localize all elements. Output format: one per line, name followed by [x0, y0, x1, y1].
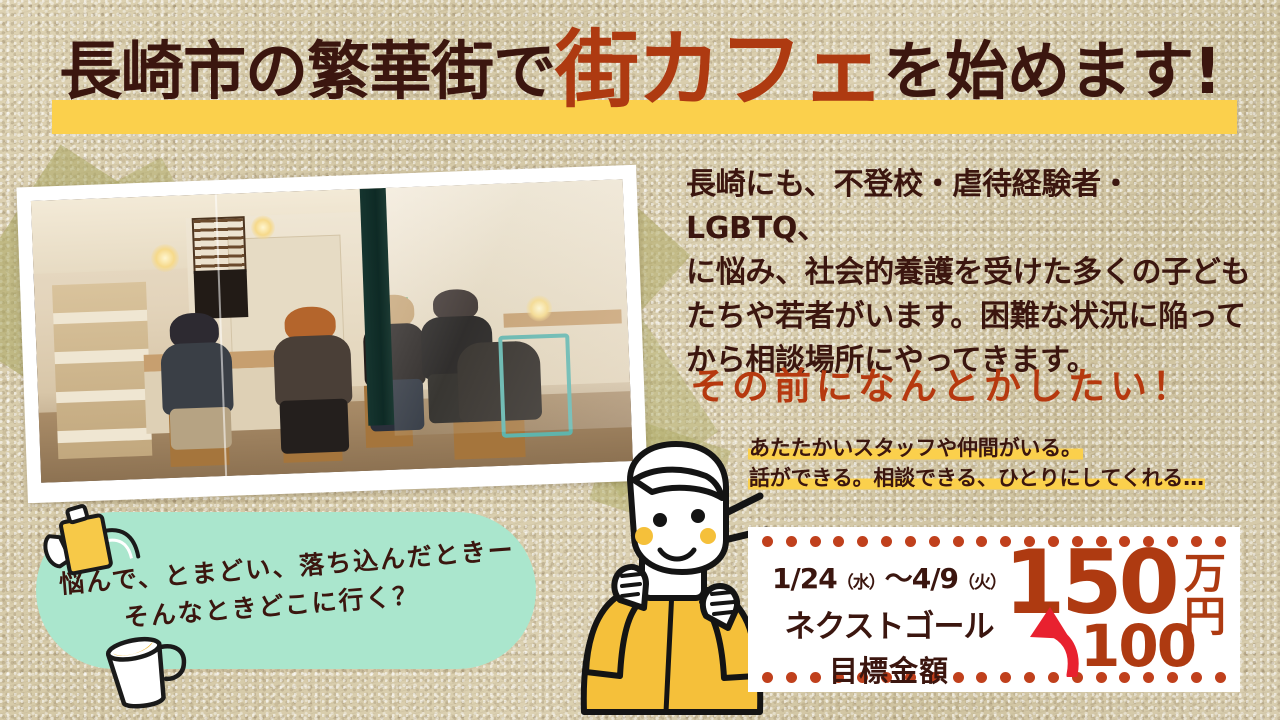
cafe-photo: [31, 179, 633, 483]
date-start-day: （水）: [837, 573, 885, 593]
panel-amount-column: 150 万 円 100: [1004, 543, 1232, 677]
sub-headline: その前になんとかしたい！: [690, 356, 1256, 410]
banner-canvas: 長崎市の繁華街で街カフェを始めます!: [0, 0, 1280, 720]
next-goal-label: ネクストゴール: [764, 601, 1014, 646]
supporting-line-2: 話ができる。相談できる、ひとりにしてくれる…: [748, 464, 1260, 494]
panel-left-column: 1/24（水）〜4/9（火） ネクストゴール 目標金額: [764, 557, 1014, 690]
body-line-3: たちや若者がいます。困難な状況に陥って: [686, 295, 1252, 339]
date-start: 1/24: [772, 562, 837, 595]
headline-part1: 長崎市の繁華街で: [59, 35, 555, 108]
goal-amount-label: 目標金額: [764, 648, 1014, 690]
goal-panel: 1/24（水）〜4/9（火） ネクストゴール 目標金額 150 万 円 100: [748, 527, 1240, 692]
supporting-lines: あたたかいスタッフや仲間がいる。 話ができる。相談できる、ひとりにしてくれる…: [748, 434, 1260, 494]
body-line-1: 長崎にも、不登校・虐待経験者・LGBTQ、: [686, 163, 1252, 251]
date-end: 4/9: [912, 562, 958, 595]
cafe-photo-frame: [16, 165, 647, 504]
campaign-dates: 1/24（水）〜4/9（火）: [764, 557, 1014, 597]
previous-goal-amount: 100: [1080, 617, 1195, 675]
headline-part2: 街カフェ: [555, 21, 883, 119]
supporting-line-1: あたたかいスタッフや仲間がいる。: [748, 434, 1260, 464]
body-line-2: に悩み、社会的養護を受けた多くの子ども: [686, 251, 1252, 295]
headline-block: 長崎市の繁華街で街カフェを始めます!: [0, 28, 1280, 146]
date-separator: 〜: [885, 562, 912, 595]
body-paragraph: 長崎にも、不登校・虐待経験者・LGBTQ、 に悩み、社会的養護を受けた多くの子ど…: [686, 163, 1252, 383]
unit-man: 万: [1182, 553, 1228, 596]
headline-part3: を始めます!: [883, 35, 1221, 108]
mug-icon: [91, 619, 205, 720]
headline-text: 長崎市の繁華街で街カフェを始めます!: [0, 28, 1280, 112]
up-arrow-icon: [1026, 605, 1082, 677]
date-end-day: （火）: [958, 573, 1006, 593]
